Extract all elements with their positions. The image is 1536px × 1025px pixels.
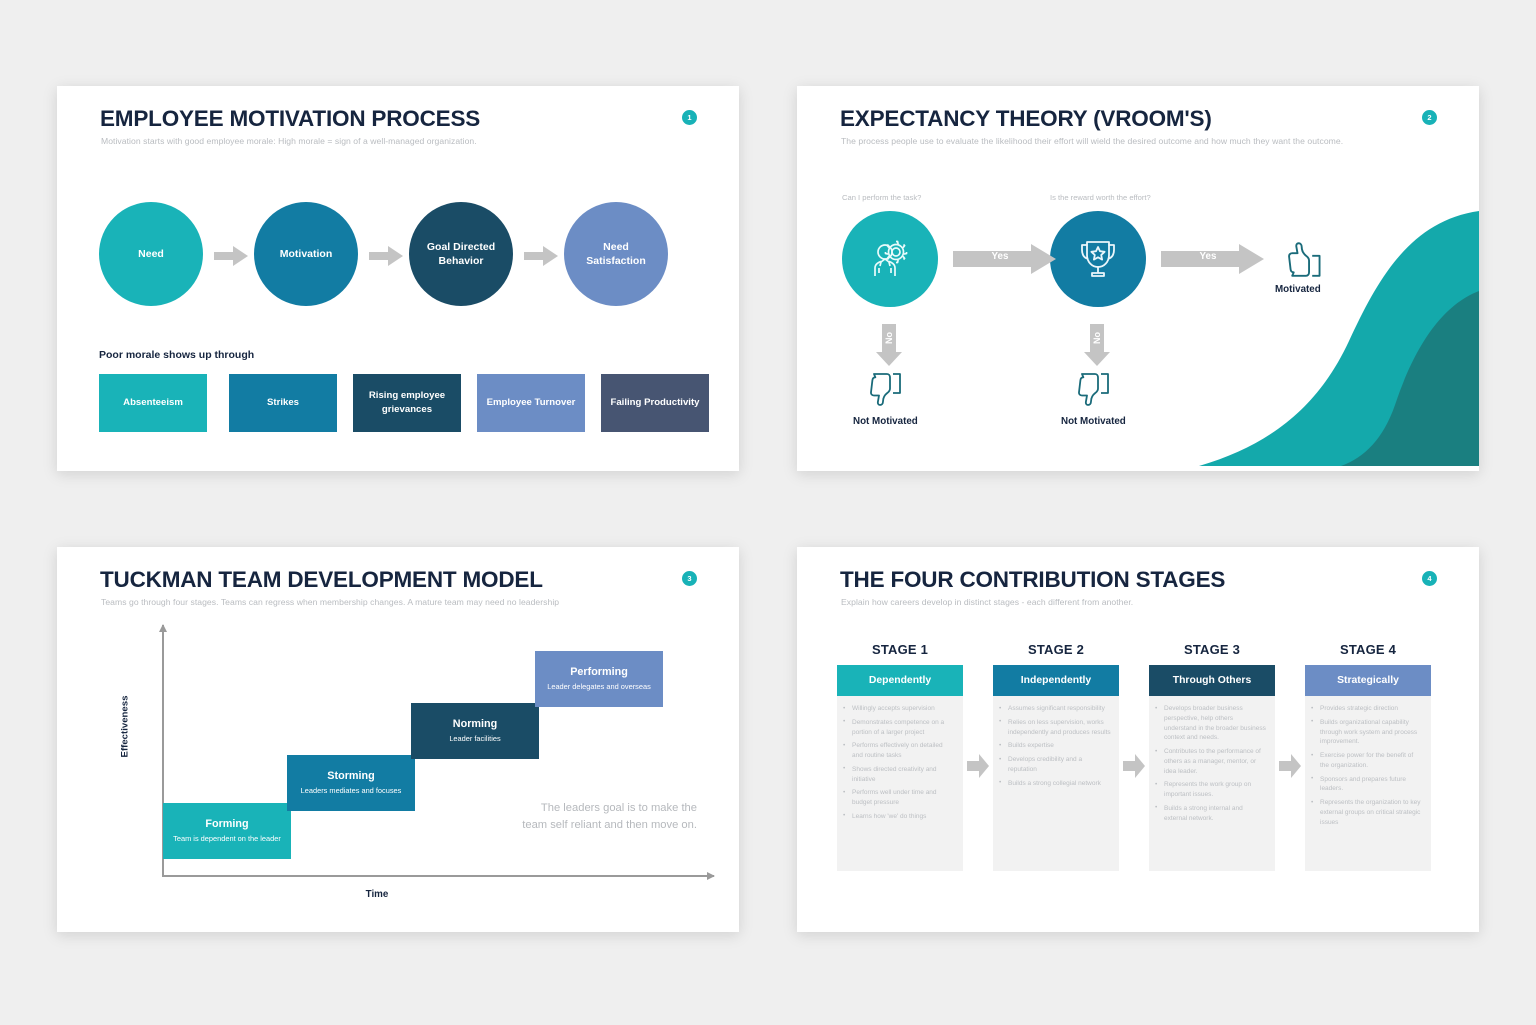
stage-bullet: Willingly accepts supervision <box>843 704 955 714</box>
contribution-stages-row: STAGE 1 Dependently Willingly accepts su… <box>837 642 1445 912</box>
page-subtitle: Teams go through four stages. Teams can … <box>101 597 559 607</box>
stage-title: Norming <box>453 718 497 731</box>
stage-bullet-list: Develops broader business perspective, h… <box>1155 704 1267 823</box>
morale-box-employee-turnover[interactable]: Employee Turnover <box>477 374 585 432</box>
stage-bullet: Provides strategic direction <box>1311 704 1423 714</box>
stage-bullet: Develops broader business perspective, h… <box>1155 704 1267 743</box>
page-subtitle: Motivation starts with good employee mor… <box>101 136 477 146</box>
arrow-right-icon <box>1279 754 1301 778</box>
stage-description: Leader facilities <box>449 734 500 744</box>
slide-employee-motivation-process[interactable]: EMPLOYEE MOTIVATION PROCESS Motivation s… <box>57 86 739 471</box>
yes-label: Yes <box>1163 251 1253 262</box>
stage-bullet: Learns how 'we' do things <box>843 812 955 822</box>
page-title: EMPLOYEE MOTIVATION PROCESS <box>100 106 480 132</box>
slide-number-badge: 1 <box>682 110 697 125</box>
stage-number: STAGE 4 <box>1305 642 1431 657</box>
thumbs-up-icon <box>1287 238 1329 280</box>
morale-box-rising-employee-grievances[interactable]: Rising employee grievances <box>353 374 461 432</box>
stage-bullet-list: Assumes significant responsibilityRelies… <box>999 704 1111 788</box>
leaders-goal-note: The leaders goal is to make the team sel… <box>517 800 697 834</box>
stage-bullet: Contributes to the performance of others… <box>1155 747 1267 776</box>
process-circle-need[interactable]: Need <box>99 202 203 306</box>
slide-four-contribution-stages[interactable]: THE FOUR CONTRIBUTION STAGES Explain how… <box>797 547 1479 932</box>
stage-header: Dependently <box>837 665 963 696</box>
process-circle-motivation[interactable]: Motivation <box>254 202 358 306</box>
expectancy-flow: Can I perform the task? Is the reward wo… <box>797 86 1479 471</box>
tuckman-staircase-chart: Effectiveness Time Forming Team is depen… <box>97 625 697 910</box>
stage-bullet-list: Willingly accepts supervisionDemonstrate… <box>843 704 955 822</box>
outcome-label-motivated: Motivated <box>1275 284 1321 295</box>
stage-title: Forming <box>205 818 248 831</box>
stage-header: Through Others <box>1149 665 1275 696</box>
stage-bullet: Relies on less supervision, works indepe… <box>999 718 1111 738</box>
stage-description: Team is dependent on the leader <box>173 834 281 844</box>
stage-bullet: Demonstrates competence on a portion of … <box>843 718 955 738</box>
stage-bullet: Builds a strong internal and external ne… <box>1155 804 1267 824</box>
stage-column-3[interactable]: STAGE 3 Through Others Develops broader … <box>1149 642 1275 871</box>
stage-bullet: Assumes significant responsibility <box>999 704 1111 714</box>
poor-morale-label: Poor morale shows up through <box>99 349 254 361</box>
stage-bullet: Represents the work group on important i… <box>1155 780 1267 800</box>
morale-box-absenteeism[interactable]: Absenteeism <box>99 374 207 432</box>
arrow-down-icon: No <box>1084 324 1110 366</box>
x-axis-label: Time <box>317 889 437 900</box>
svg-text:No: No <box>1092 332 1102 344</box>
morale-box-strikes[interactable]: Strikes <box>229 374 337 432</box>
yes-label: Yes <box>955 251 1045 262</box>
stage-block-norming[interactable]: Norming Leader facilities <box>411 703 539 759</box>
stage-bullet: Performs effectively on detailed and rou… <box>843 741 955 761</box>
stage-header: Independently <box>993 665 1119 696</box>
arrow-right-icon <box>214 246 248 266</box>
stage-column-1[interactable]: STAGE 1 Dependently Willingly accepts su… <box>837 642 963 871</box>
stage-body: Provides strategic directionBuilds organ… <box>1305 696 1431 871</box>
stage-number: STAGE 2 <box>993 642 1119 657</box>
question-label-effort: Can I perform the task? <box>842 193 921 202</box>
stage-bullet: Builds a strong collegial network <box>999 779 1111 789</box>
stage-body: Develops broader business perspective, h… <box>1149 696 1275 871</box>
thumbs-down-icon <box>1077 370 1117 410</box>
outcome-label-not-motivated: Not Motivated <box>853 416 918 427</box>
arrow-right-icon <box>524 246 558 266</box>
slide-number-badge: 3 <box>682 571 697 586</box>
page-subtitle: Explain how careers develop in distinct … <box>841 597 1133 607</box>
question-label-reward: Is the reward worth the effort? <box>1050 193 1151 202</box>
stage-column-2[interactable]: STAGE 2 Independently Assumes significan… <box>993 642 1119 871</box>
morale-symptom-row: Absenteeism Strikes Rising employee grie… <box>99 374 699 434</box>
stage-column-4[interactable]: STAGE 4 Strategically Provides strategic… <box>1305 642 1431 871</box>
page-title: TUCKMAN TEAM DEVELOPMENT MODEL <box>100 567 543 593</box>
person-gear-icon <box>865 234 915 284</box>
stage-description: Leaders mediates and focuses <box>301 786 402 796</box>
stage-body: Willingly accepts supervisionDemonstrate… <box>837 696 963 871</box>
stage-bullet: Builds organizational capability through… <box>1311 718 1423 747</box>
expectancy-node-effort[interactable] <box>842 211 938 307</box>
stage-bullet: Develops credibility and a reputation <box>999 755 1111 775</box>
arrow-down-icon: No <box>876 324 902 366</box>
stage-bullet: Represents the organization to key exter… <box>1311 798 1423 827</box>
stage-bullet: Performs well under time and budget pres… <box>843 788 955 808</box>
stage-bullet: Sponsors and prepares future leaders. <box>1311 775 1423 795</box>
process-circle-goal-directed-behavior[interactable]: Goal Directed Behavior <box>409 202 513 306</box>
stage-bullet-list: Provides strategic directionBuilds organ… <box>1311 704 1423 827</box>
slide-tuckman-team-development-model[interactable]: TUCKMAN TEAM DEVELOPMENT MODEL Teams go … <box>57 547 739 932</box>
stage-block-performing[interactable]: Performing Leader delegates and overseas <box>535 651 663 707</box>
stage-block-forming[interactable]: Forming Team is dependent on the leader <box>163 803 291 859</box>
slide-expectancy-theory[interactable]: EXPECTANCY THEORY (VROOM'S) The process … <box>797 86 1479 471</box>
stage-description: Leader delegates and overseas <box>547 682 651 692</box>
x-axis <box>162 875 714 877</box>
stage-bullet: Exercise power for the benefit of the or… <box>1311 751 1423 771</box>
process-circle-row: Need Motivation Goal Directed Behavior N… <box>99 202 699 324</box>
stage-number: STAGE 1 <box>837 642 963 657</box>
arrow-right-icon <box>369 246 403 266</box>
expectancy-node-reward[interactable] <box>1050 211 1146 307</box>
stage-header: Strategically <box>1305 665 1431 696</box>
stage-body: Assumes significant responsibilityRelies… <box>993 696 1119 871</box>
arrow-right-icon <box>1123 754 1145 778</box>
arrow-right-icon <box>967 754 989 778</box>
stage-bullet: Builds expertise <box>999 741 1111 751</box>
morale-box-failing-productivity[interactable]: Failing Productivity <box>601 374 709 432</box>
page-title: THE FOUR CONTRIBUTION STAGES <box>840 567 1225 593</box>
stage-title: Storming <box>327 770 374 783</box>
y-axis-label: Effectiveness <box>120 677 131 777</box>
stage-title: Performing <box>570 666 628 679</box>
stage-bullet: Shows directed creativity and initiative <box>843 765 955 785</box>
slide-number-badge: 4 <box>1422 571 1437 586</box>
stage-block-storming[interactable]: Storming Leaders mediates and focuses <box>287 755 415 811</box>
outcome-label-not-motivated: Not Motivated <box>1061 416 1126 427</box>
stage-number: STAGE 3 <box>1149 642 1275 657</box>
trophy-icon <box>1073 234 1123 284</box>
process-circle-need-satisfaction[interactable]: Need Satisfaction <box>564 202 668 306</box>
svg-text:No: No <box>884 332 894 344</box>
slide-deck-canvas: EMPLOYEE MOTIVATION PROCESS Motivation s… <box>0 0 1536 1025</box>
thumbs-down-icon <box>869 370 909 410</box>
